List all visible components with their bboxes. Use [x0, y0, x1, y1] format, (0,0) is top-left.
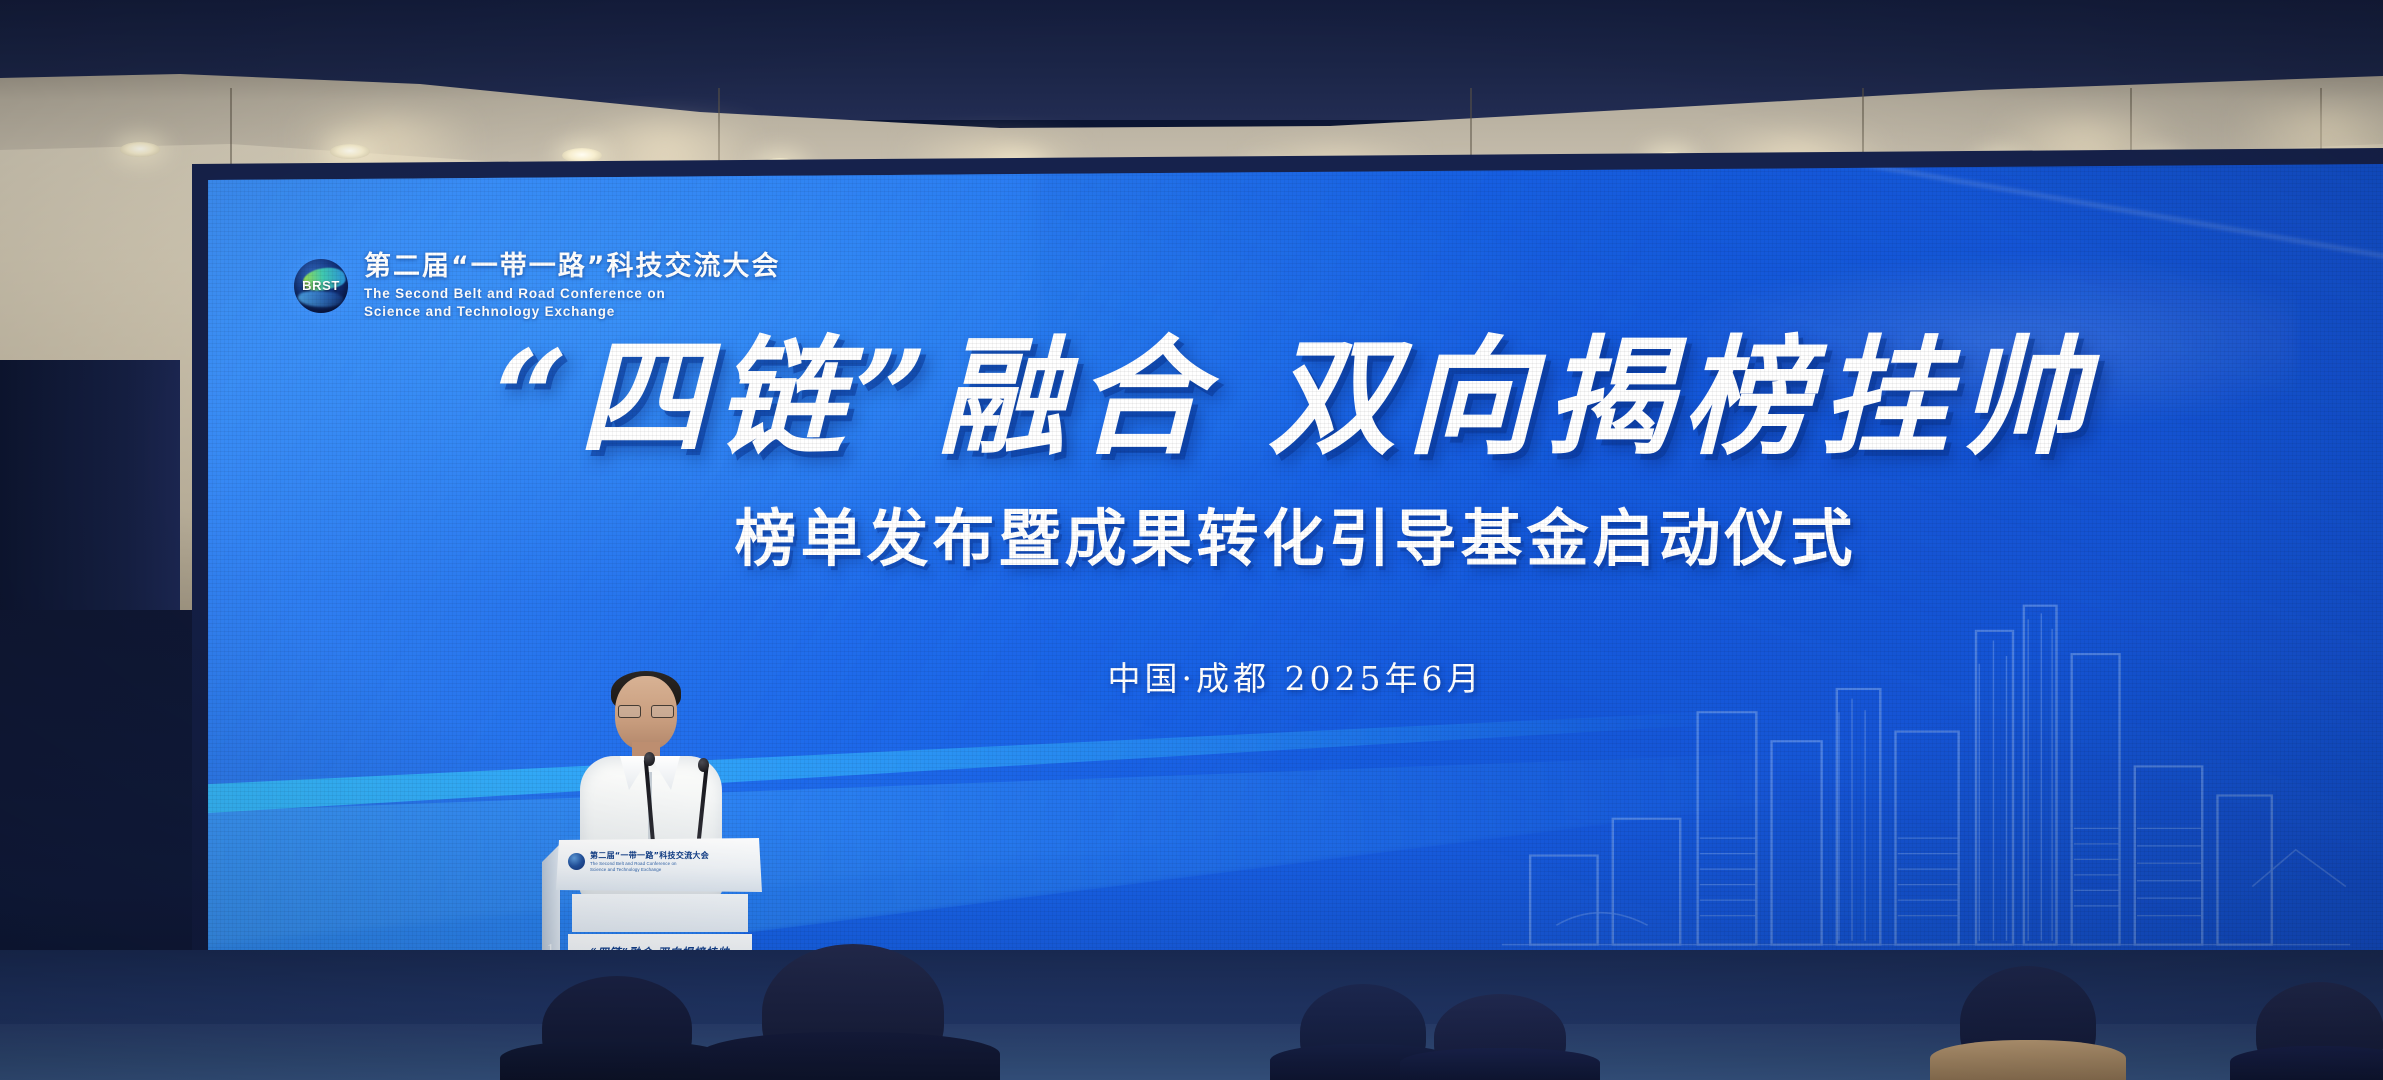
- conference-title-cn: 第二届“一带一路”科技交流大会: [364, 252, 781, 282]
- main-headline: “四链”融合 双向揭榜挂帅: [495, 334, 2097, 462]
- audience-shoulders: [2230, 1046, 2383, 1080]
- glasses-lens-right: [651, 705, 674, 718]
- conference-title-en: The Second Belt and Road Conference on S…: [364, 285, 781, 320]
- sub-headline: 榜单发布暨成果转化引导基金启动仪式: [208, 488, 2383, 578]
- ceiling-downlight: [120, 142, 160, 157]
- audience-member: [1930, 952, 2126, 1080]
- podium-brand-texts: 第二届“一带一路”科技交流大会 The Second Belt and Road…: [590, 850, 709, 872]
- microphone-head-right: [698, 758, 709, 772]
- podium-brand-en-line2: Science and Technology Exchange: [590, 867, 709, 873]
- brst-mark-text: BRST: [294, 278, 348, 293]
- logo-text-block: 第二届“一带一路”科技交流大会 The Second Belt and Road…: [364, 252, 781, 320]
- audience-shoulders: [1400, 1048, 1600, 1080]
- speaker-glasses: [618, 705, 674, 716]
- ceiling-downlight: [330, 144, 370, 159]
- glasses-lens-left: [618, 705, 641, 718]
- conference-title-en-line2: Science and Technology Exchange: [364, 303, 781, 320]
- conference-logo-lockup: BRST 第二届“一带一路”科技交流大会 The Second Belt and…: [294, 252, 781, 320]
- ceiling-downlight: [562, 148, 602, 163]
- audience-member: [2230, 970, 2383, 1080]
- podium-top-panel: 第二届“一带一路”科技交流大会 The Second Belt and Road…: [556, 838, 762, 892]
- podium-brand-cn: 第二届“一带一路”科技交流大会: [590, 850, 709, 861]
- audience-member: [1400, 984, 1600, 1080]
- audience-member: [700, 930, 1000, 1080]
- audience-shoulders: [500, 1040, 730, 1080]
- brst-globe-logo: BRST: [294, 259, 348, 313]
- conference-stage-photo: BRST 第二届“一带一路”科技交流大会 The Second Belt and…: [0, 0, 2383, 1080]
- podium-brst-globe-icon: [568, 853, 585, 870]
- audience-shoulders: [1930, 1040, 2126, 1080]
- audience-shoulders: [700, 1032, 1000, 1080]
- headline-block: “四链”融合 双向揭榜挂帅 榜单发布暨成果转化引导基金启动仪式 中国·成都 20…: [208, 334, 2383, 700]
- audience-member: [500, 962, 730, 1080]
- podium-mid-panel: [572, 894, 748, 932]
- location-date-line: 中国·成都 2025年6月: [208, 652, 2383, 700]
- led-screen: BRST 第二届“一带一路”科技交流大会 The Second Belt and…: [208, 164, 2383, 964]
- conference-title-en-line1: The Second Belt and Road Conference on: [364, 285, 781, 302]
- microphone-head-left: [644, 752, 655, 766]
- podium-brand-lockup: 第二届“一带一路”科技交流大会 The Second Belt and Road…: [568, 850, 709, 872]
